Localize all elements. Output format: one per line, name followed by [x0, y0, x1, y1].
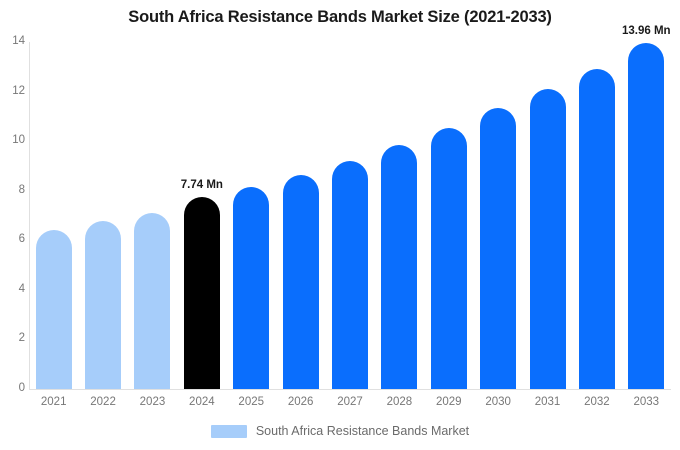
bar-2026[interactable] [283, 175, 319, 389]
bar-2029[interactable] [431, 128, 467, 389]
bar-column[interactable] [579, 42, 615, 389]
bar-column[interactable] [283, 42, 319, 389]
bar-2031[interactable] [530, 89, 566, 389]
x-axis-tick-2033: 2033 [616, 396, 676, 409]
bar-column[interactable] [184, 42, 220, 389]
legend-label: South Africa Resistance Bands Market [256, 425, 469, 438]
bar-column[interactable] [332, 42, 368, 389]
bar-2027[interactable] [332, 161, 368, 389]
bar-column[interactable] [36, 42, 72, 389]
bar-value-label-2033: 13.96 Mn [601, 25, 680, 37]
bar-column[interactable] [233, 42, 269, 389]
bar-2033[interactable] [628, 43, 664, 389]
bar-2022[interactable] [85, 221, 121, 389]
bar-2021[interactable] [36, 230, 72, 389]
plot-area [29, 42, 671, 389]
chart-legend: South Africa Resistance Bands Market [0, 425, 680, 438]
bar-2032[interactable] [579, 69, 615, 389]
y-axis-tick: 4 [3, 284, 25, 296]
y-axis-tick: 0 [3, 383, 25, 395]
y-axis-tick: 6 [3, 234, 25, 246]
bar-2030[interactable] [480, 108, 516, 389]
chart-title: South Africa Resistance Bands Market Siz… [0, 8, 680, 27]
y-axis-tick: 10 [3, 135, 25, 147]
bar-column[interactable] [134, 42, 170, 389]
y-axis-tick: 14 [3, 36, 25, 48]
bar-column[interactable] [431, 42, 467, 389]
bar-column[interactable] [381, 42, 417, 389]
bar-column[interactable] [480, 42, 516, 389]
y-axis-tick: 8 [3, 185, 25, 197]
y-axis-tick: 12 [3, 86, 25, 98]
legend-color-swatch [211, 425, 247, 438]
bar-column[interactable] [530, 42, 566, 389]
bar-column[interactable] [85, 42, 121, 389]
bar-2028[interactable] [381, 145, 417, 389]
y-axis-tick: 2 [3, 333, 25, 345]
bar-2023[interactable] [134, 213, 170, 389]
bar-value-label-2024: 7.74 Mn [157, 179, 247, 191]
bar-2024[interactable] [184, 197, 220, 389]
y-axis-tick-labels: 02468101214 [0, 42, 25, 389]
bar-chart: South Africa Resistance Bands Market Siz… [0, 0, 680, 450]
bar-2025[interactable] [233, 187, 269, 389]
x-axis-line [29, 389, 671, 390]
bar-column[interactable] [628, 42, 664, 389]
